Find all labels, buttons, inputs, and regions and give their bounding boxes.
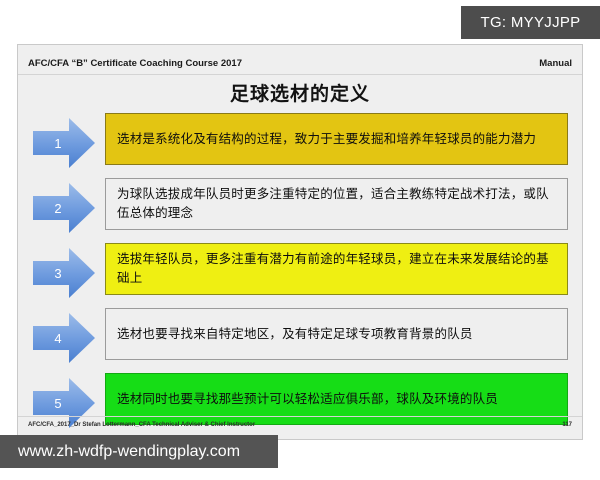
point-textbox: 选材是系统化及有结构的过程，致力于主要发掘和培养年轻球员的能力潜力	[105, 113, 568, 165]
list-item: 2 为球队选拔成年队员时更多注重特定的位置，适合主教练特定战术打法，或队伍总体的…	[18, 178, 582, 238]
step-arrow-1: 1	[33, 116, 95, 170]
step-number: 4	[47, 311, 69, 365]
site-watermark-text: www.zh-wdfp-wendingplay.com	[18, 443, 240, 461]
step-number: 2	[47, 181, 69, 235]
step-number: 3	[47, 246, 69, 300]
telegram-watermark-badge: TG: MYYJJPP	[461, 6, 600, 39]
step-arrow-4: 4	[33, 311, 95, 365]
step-number: 1	[47, 116, 69, 170]
slide-footer: AFC/CFA_2017_Dr Stefan Lottermann_CFA Te…	[18, 416, 582, 432]
presentation-slide: AFC/CFA “B” Certificate Coaching Course …	[17, 44, 583, 440]
list-item: 4 选材也要寻找来自特定地区，及有特定足球专项教育背景的队员	[18, 308, 582, 368]
point-textbox: 选材也要寻找来自特定地区，及有特定足球专项教育背景的队员	[105, 308, 568, 360]
step-arrow-3: 3	[33, 246, 95, 300]
manual-label: Manual	[539, 58, 572, 69]
point-textbox: 选拔年轻队员，更多注重有潜力有前途的年轻球员，建立在未来发展结论的基础上	[105, 243, 568, 295]
telegram-watermark-text: TG: MYYJJPP	[481, 14, 581, 31]
list-item: 3 选拔年轻队员，更多注重有潜力有前途的年轻球员，建立在未来发展结论的基础上	[18, 243, 582, 303]
slide-title: 足球选材的定义	[18, 79, 582, 106]
point-textbox: 为球队选拔成年队员时更多注重特定的位置，适合主教练特定战术打法，或队伍总体的理念	[105, 178, 568, 230]
step-arrow-2: 2	[33, 181, 95, 235]
site-watermark-badge: www.zh-wdfp-wendingplay.com	[0, 435, 278, 468]
numbered-points-list: 1 选材是系统化及有结构的过程，致力于主要发掘和培养年轻球员的能力潜力	[18, 113, 582, 438]
page-number: 117	[562, 422, 572, 428]
author-credit-label: AFC/CFA_2017_Dr Stefan Lottermann_CFA Te…	[28, 422, 255, 428]
slide-header: AFC/CFA “B” Certificate Coaching Course …	[18, 53, 582, 75]
list-item: 1 选材是系统化及有结构的过程，致力于主要发掘和培养年轻球员的能力潜力	[18, 113, 582, 173]
course-title-label: AFC/CFA “B” Certificate Coaching Course …	[28, 58, 242, 69]
